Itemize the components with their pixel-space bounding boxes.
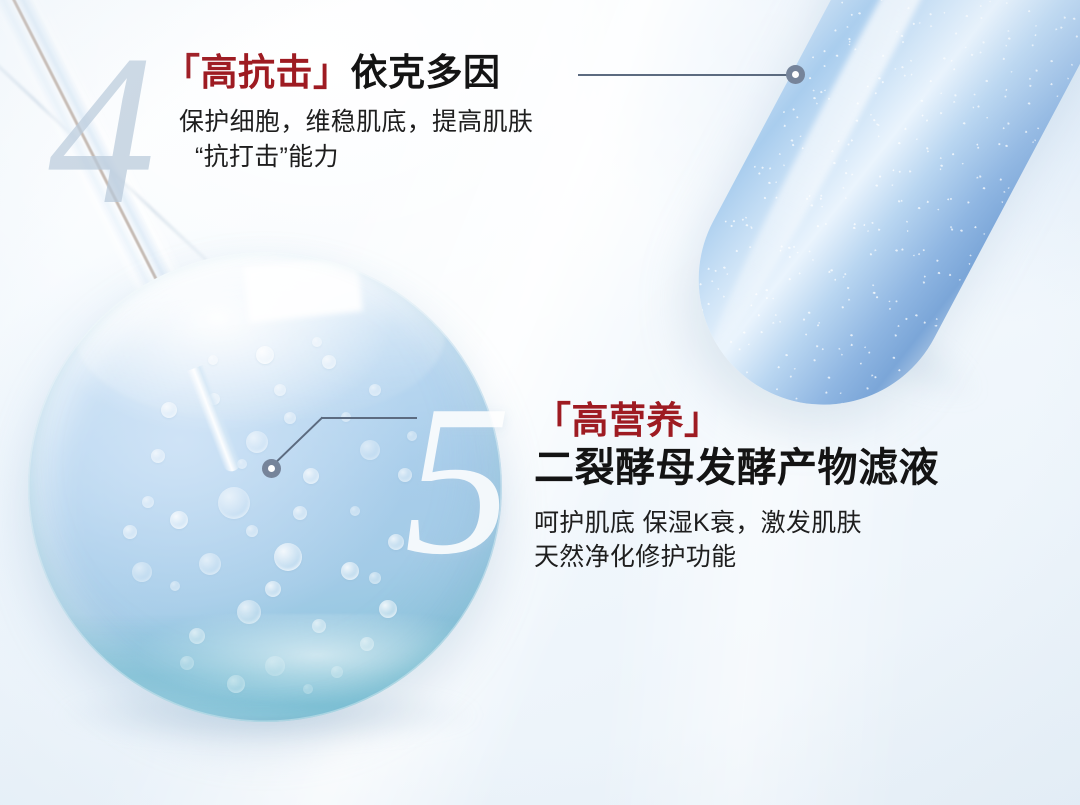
product-ingredient-poster: 4 5 「高抗击」依克多因 保护细胞，维稳肌底，提高肌肤 “抗打击”能力 「高营… <box>0 0 1080 805</box>
background-vignette <box>0 0 1080 805</box>
